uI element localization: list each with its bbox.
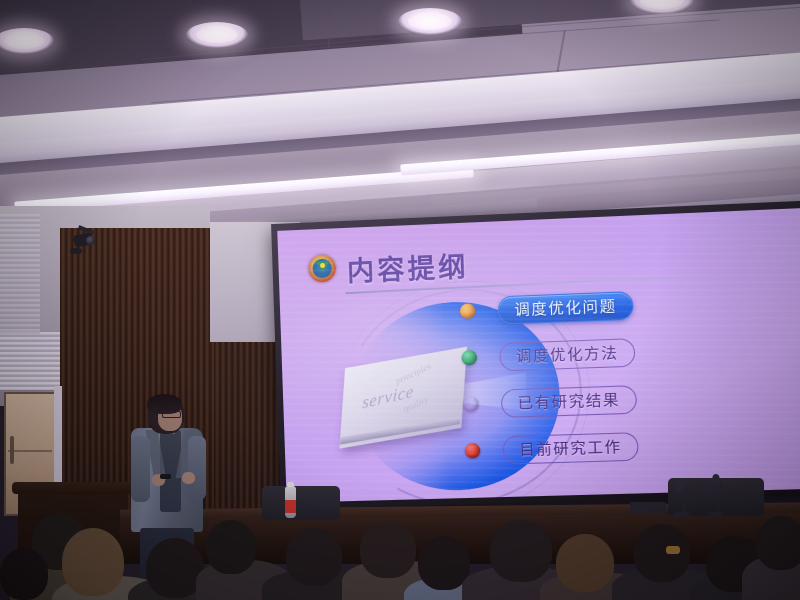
audience-head: [206, 520, 256, 574]
audience-head: [490, 520, 552, 582]
speaker-arm-right: [188, 436, 206, 500]
eyeglasses-icon: [162, 411, 181, 418]
chair-back: [262, 486, 340, 520]
audience-head: [286, 528, 342, 586]
downlight-bulb: [196, 27, 238, 43]
audience-head: [62, 528, 124, 596]
audience-head: [0, 548, 48, 600]
speaker-arm-left: [131, 436, 150, 502]
camera-lens-icon: [86, 236, 95, 245]
audience-head: [756, 516, 800, 570]
hair-clip-accessory: [666, 546, 680, 554]
microphone-base: [708, 512, 723, 518]
bottle-label: [285, 500, 296, 513]
downlight-bulb: [640, 0, 684, 9]
window-blinds: [0, 214, 40, 334]
laptop[interactable]: [630, 502, 666, 514]
presenter-remote[interactable]: [160, 474, 171, 479]
window-blinds: [0, 332, 62, 390]
podium-top: [12, 482, 134, 494]
speaker-hand-right: [182, 472, 195, 484]
audience-head: [634, 524, 690, 582]
downlight-bulb: [4, 33, 45, 49]
camera-bracket: [70, 248, 82, 254]
ceiling-downlight: [186, 22, 248, 48]
presentation-photo-scene: 内容提纲 principles service quality 调度优化问题 调…: [0, 0, 800, 600]
microphone-base: [674, 512, 689, 518]
door-handle[interactable]: [10, 436, 14, 464]
audience-head: [360, 522, 416, 578]
ceiling-downlight: [398, 8, 462, 35]
door-panel-line: [8, 450, 52, 452]
downlight-bulb: [408, 13, 452, 30]
slide-surface: 内容提纲 principles service quality 调度优化问题 调…: [277, 208, 800, 503]
screen-scanlines: [277, 208, 800, 503]
projection-screen: 内容提纲 principles service quality 调度优化问题 调…: [271, 200, 800, 509]
bottle-cap: [287, 482, 294, 487]
audience-head: [556, 534, 614, 592]
